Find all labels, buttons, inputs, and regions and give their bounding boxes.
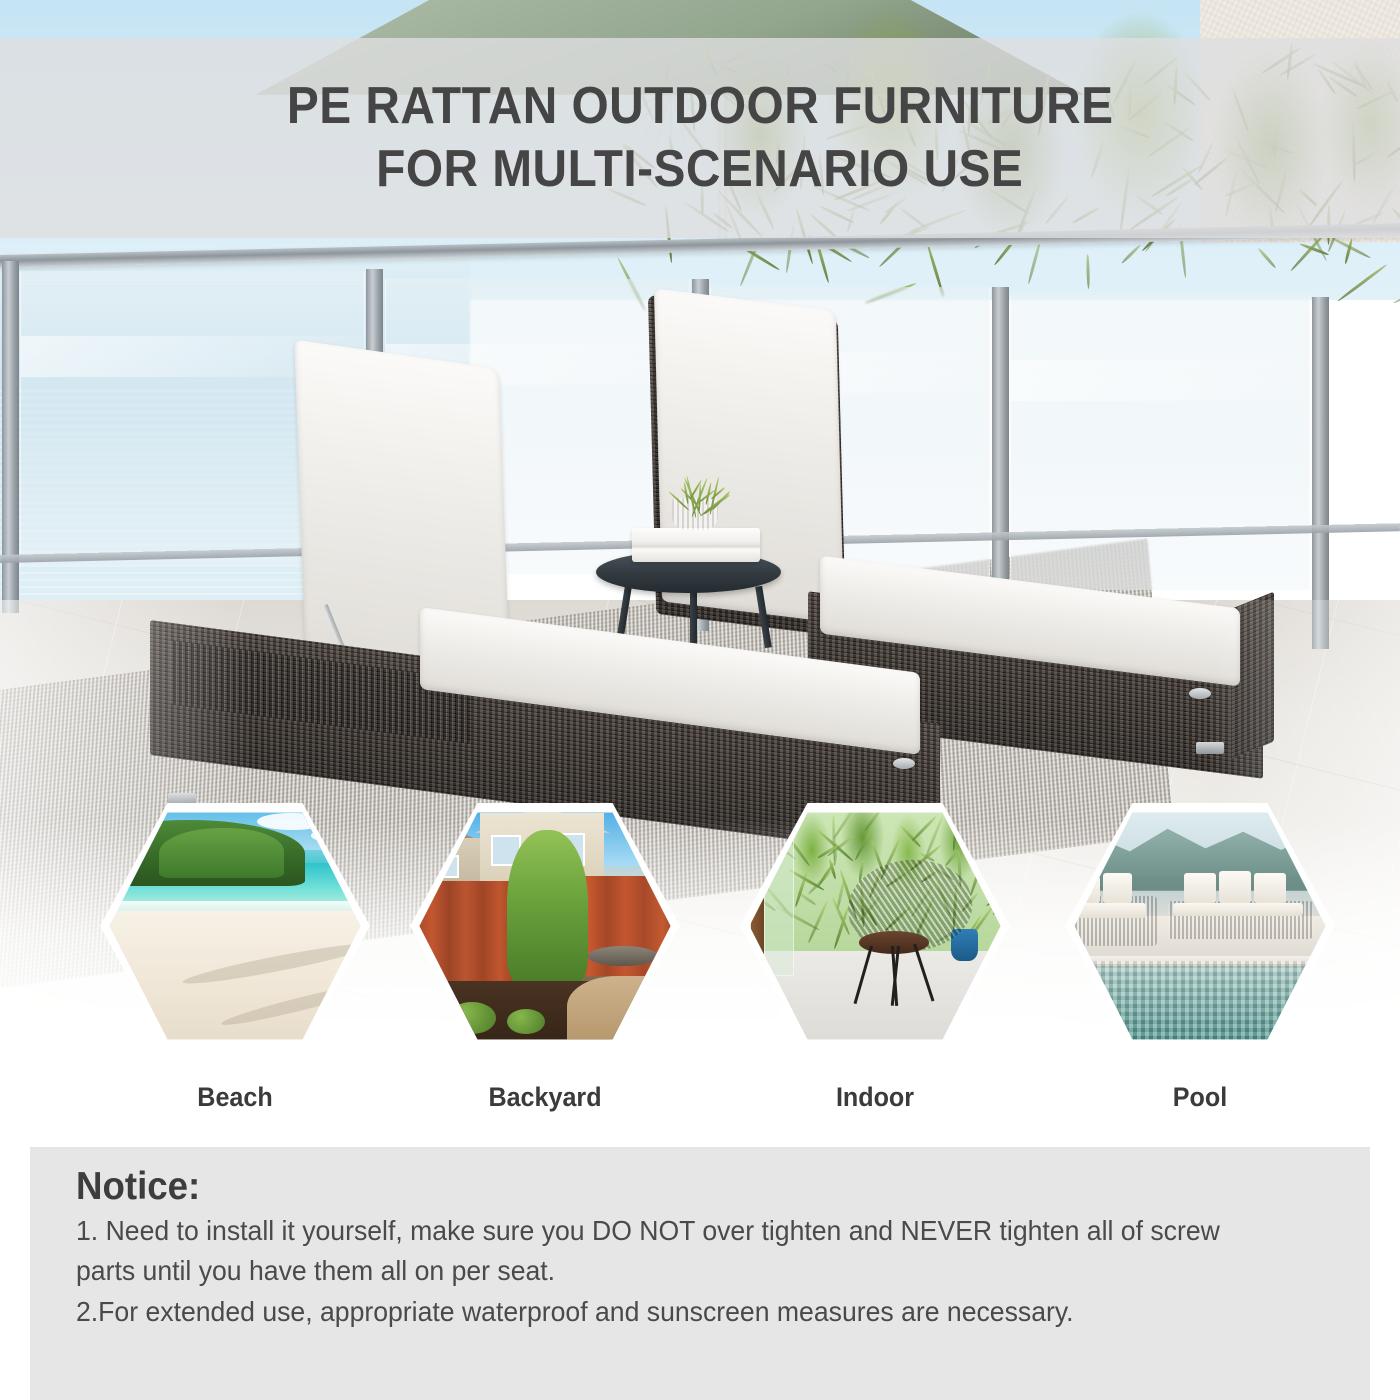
throw-pillow: [1219, 871, 1251, 904]
product-marketing-image: PE RATTAN OUTDOOR FURNITURE FOR MULTI-SC…: [0, 0, 1400, 1400]
scenario-label-backyard: Backyard: [410, 1082, 680, 1113]
pool-water: [1065, 961, 1335, 1052]
throw-pillow: [1103, 873, 1133, 903]
scenario-item-backyard: Backyard: [400, 800, 690, 1113]
brand-badge: [1189, 688, 1211, 699]
header-banner: PE RATTAN OUTDOOR FURNITURE FOR MULTI-SC…: [0, 38, 1400, 238]
scenario-item-beach: Beach: [90, 800, 380, 1113]
scenario-item-indoor: Indoor: [730, 800, 1020, 1113]
indoor-scene-illustration: [740, 800, 1010, 1052]
throw-pillow: [1184, 873, 1216, 903]
railing-post: [1312, 297, 1329, 649]
hexagon-frame-beach: [100, 800, 370, 1052]
hexagon-photo-indoor: [740, 800, 1010, 1052]
house-window: [434, 855, 458, 878]
hexagon-photo-backyard: [410, 800, 680, 1052]
cloud: [257, 813, 327, 831]
sofa-seat-cushion: [1070, 903, 1146, 918]
lounger-foot: [1196, 742, 1224, 754]
beach-sand: [100, 911, 370, 1052]
scenario-hexagon-row: Beach: [0, 800, 1400, 1100]
throw-pillow: [1254, 873, 1286, 903]
scenario-label-indoor: Indoor: [740, 1082, 1010, 1113]
notice-line-2: 2.For extended use, appropriate waterpro…: [76, 1292, 1262, 1332]
throw-pillow: [1070, 876, 1100, 904]
hexagon-photo-pool: [1065, 800, 1335, 1052]
hexagon-photo-beach: [100, 800, 370, 1052]
scenario-label-beach: Beach: [100, 1082, 370, 1113]
sofa-seat-cushion: [1173, 903, 1303, 916]
scenario-label-pool: Pool: [1065, 1082, 1335, 1113]
page-title-line-2: FOR MULTI-SCENARIO USE: [376, 138, 1023, 201]
stone-path: [567, 976, 680, 1052]
glass-door-panel: [764, 810, 794, 976]
beach-island-trees: [159, 828, 283, 878]
glass-panel: [1010, 295, 1310, 590]
tall-shrub: [507, 830, 588, 986]
hexagon-frame-backyard: [410, 800, 680, 1052]
hexagon-frame-pool: [1065, 800, 1335, 1052]
pool-scene-illustration: [1065, 800, 1335, 1052]
page-title-line-1: PE RATTAN OUTDOOR FURNITURE: [287, 75, 1114, 138]
scenario-item-pool: Pool: [1055, 800, 1345, 1113]
notice-title: Notice:: [76, 1165, 1249, 1209]
beach-scene-illustration: [100, 800, 370, 1052]
notice-line-1: 1. Need to install it yourself, make sur…: [76, 1211, 1262, 1292]
cloud: [311, 828, 365, 843]
brand-badge: [893, 758, 915, 769]
door-frame: [751, 810, 765, 976]
hexagon-frame-indoor: [740, 800, 1010, 1052]
stacked-books: [632, 528, 760, 562]
backyard-scene-illustration: [410, 800, 680, 1052]
notice-panel: Notice: 1. Need to install it yourself, …: [30, 1147, 1370, 1400]
